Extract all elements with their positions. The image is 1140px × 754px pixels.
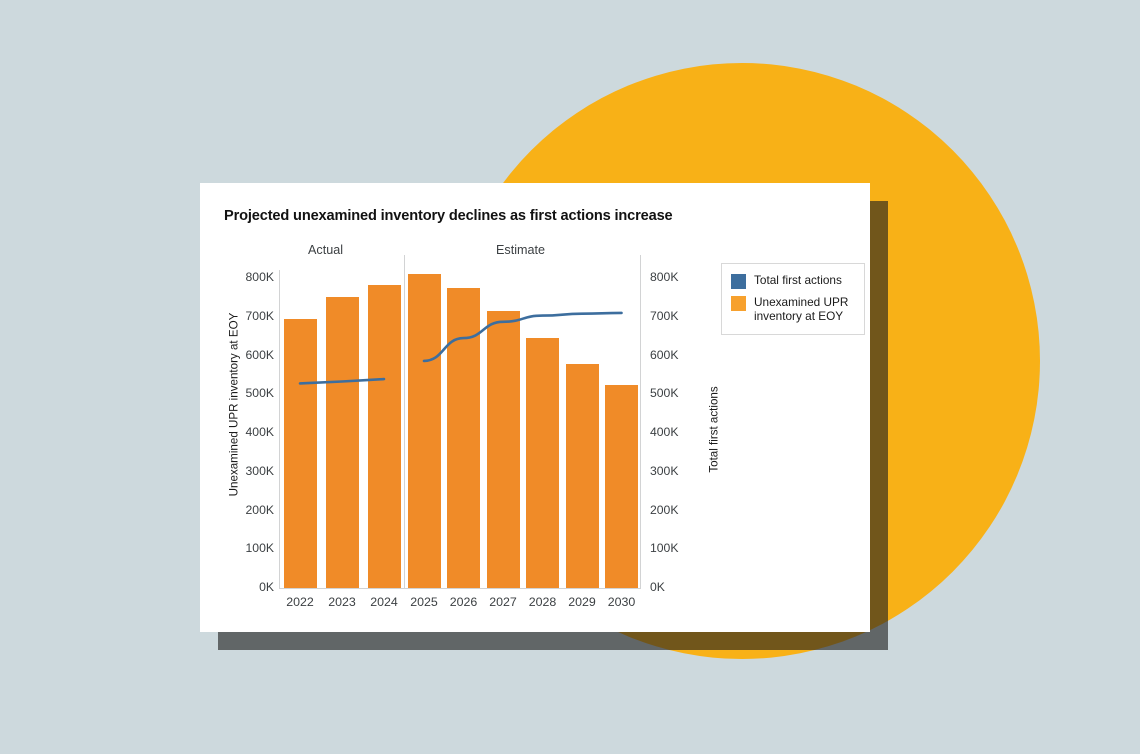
x-tick-label: 2022 [280,595,320,609]
legend-item[interactable]: Total first actions [731,273,854,289]
y-tick-right: 600K [650,349,710,361]
bar [526,338,559,588]
y-tick-left: 500K [214,387,274,399]
x-tick-label: 2030 [602,595,642,609]
x-tick-label: 2029 [562,595,602,609]
bar [284,319,317,588]
x-tick-label: 2023 [322,595,362,609]
y-tick-left: 600K [214,349,274,361]
axis-line-right [640,255,641,589]
y-tick-right: 500K [650,387,710,399]
bar [326,297,359,588]
y-tick-left: 100K [214,542,274,554]
bar [408,274,441,588]
x-tick-label: 2028 [523,595,563,609]
x-tick-label: 2024 [364,595,404,609]
legend-item[interactable]: Unexamined UPR inventory at EOY [731,295,854,324]
chart-card: Projected unexamined inventory declines … [200,183,870,632]
y-tick-left: 800K [214,271,274,283]
bar [566,364,599,588]
scene: Projected unexamined inventory declines … [0,0,1140,754]
y-tick-left: 400K [214,426,274,438]
chart-legend: Total first actions Unexamined UPR inven… [721,263,865,335]
legend-label: Unexamined UPR inventory at EOY [754,295,854,324]
bar [447,288,480,588]
bar-series [280,183,640,632]
bar [605,385,638,588]
bar [368,285,401,588]
x-tick-label: 2025 [404,595,444,609]
y-tick-right: 100K [650,542,710,554]
legend-label: Total first actions [754,273,842,287]
y-axis-right-ticks: 0K100K200K300K400K500K600K700K800K [650,183,712,632]
y-axis-left-ticks: 0K100K200K300K400K500K600K700K800K [212,183,274,632]
legend-swatch-total-first-actions [731,274,746,289]
y-tick-right: 700K [650,310,710,322]
y-tick-left: 300K [214,465,274,477]
x-tick-label: 2026 [444,595,484,609]
x-tick-label: 2027 [483,595,523,609]
y-tick-right: 0K [650,581,710,593]
y-tick-right: 300K [650,465,710,477]
y-tick-right: 200K [650,504,710,516]
bar [487,311,520,588]
y-tick-right: 400K [650,426,710,438]
y-tick-left: 0K [214,581,274,593]
legend-swatch-unexamined-upr [731,296,746,311]
plot-area: Unexamined UPR inventory at EOY Total fi… [200,183,870,632]
y-tick-left: 700K [214,310,274,322]
y-tick-left: 200K [214,504,274,516]
y-tick-right: 800K [650,271,710,283]
